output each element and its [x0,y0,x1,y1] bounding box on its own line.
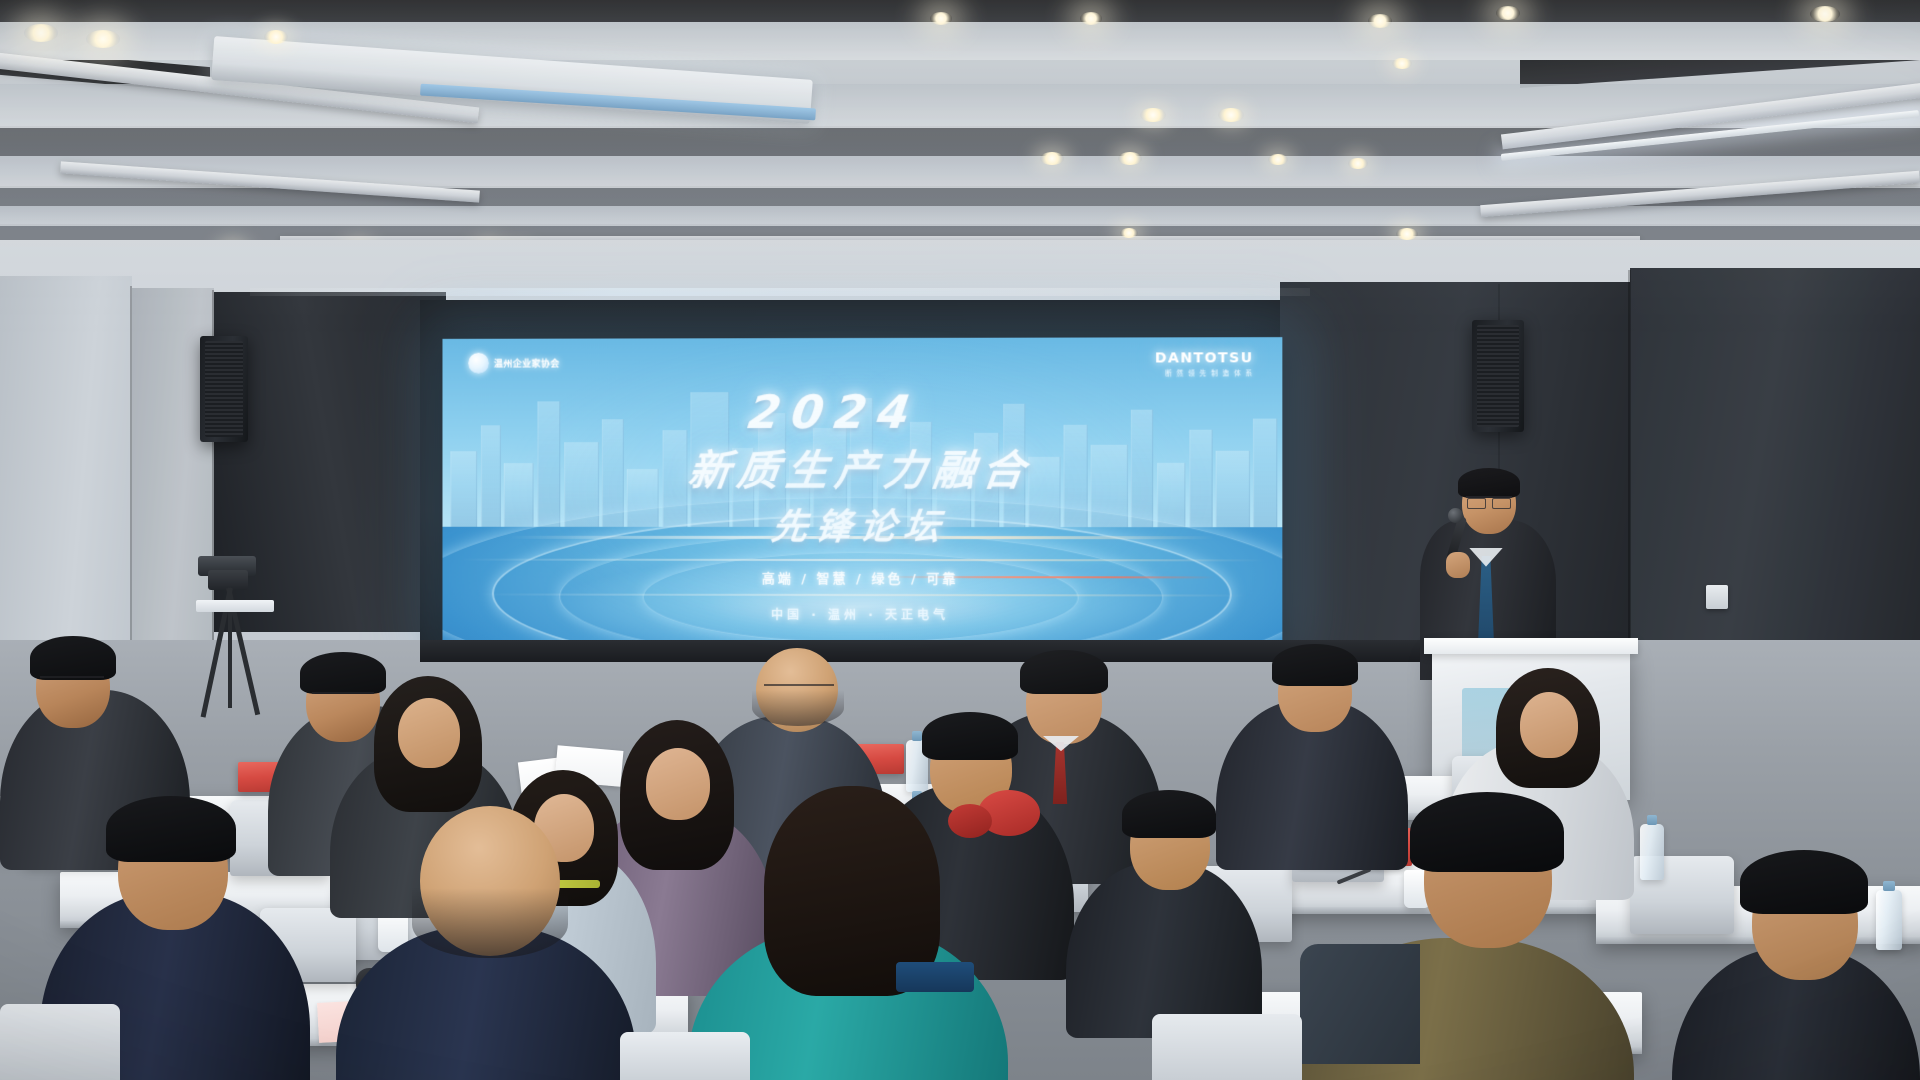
screen-title-sub: 先锋论坛 [442,498,1282,550]
screen-logo-left: 温州企业家协会 [468,353,560,374]
wall-speaker-right [1472,320,1524,432]
hair-bow [948,804,992,838]
dark-wall-far-right [1630,268,1920,668]
led-presentation-screen[interactable]: 温州企业家协会 DANTOTSU 断 然 领 先 制 造 体 系 2024 新质… [442,337,1282,644]
screen-slogan: 高端 / 智慧 / 绿色 / 可靠 [442,568,1282,588]
dark-wall-left [214,292,446,632]
microphone-head [1448,508,1463,523]
wall-switch-plate[interactable] [1706,585,1728,609]
screen-title-main: 新质生产力融合 [442,437,1282,498]
circular-emblem-icon [468,353,489,374]
screen-logo-right: DANTOTSU 断 然 领 先 制 造 体 系 [1155,350,1254,377]
side-table [196,600,274,612]
screen-venue: 中国 · 温州 · 天正电气 [442,606,1282,624]
brand-tagline: 断 然 领 先 制 造 体 系 [1155,367,1254,377]
podium-top-surface [1424,638,1638,654]
presenter-hair [1458,468,1520,498]
chair-back-foreground[interactable] [620,1032,750,1080]
water-bottle[interactable] [1876,890,1902,950]
conference-hall-photo: 温州企业家协会 DANTOTSU 断 然 领 先 制 造 体 系 2024 新质… [0,0,1920,1080]
brand-name: DANTOTSU [1155,350,1254,366]
screen-year: 2024 [442,385,1235,440]
water-bottle[interactable] [1640,824,1664,880]
screen-logo-left-text: 温州企业家协会 [494,357,560,370]
wall-speaker-left [200,336,248,442]
chair-back-foreground[interactable] [0,1004,120,1080]
presenter-hand [1446,552,1470,578]
presenter-glasses [1466,496,1512,506]
chair-back-foreground[interactable] [1152,1014,1302,1080]
screen-content: 温州企业家协会 DANTOTSU 断 然 领 先 制 造 体 系 2024 新质… [442,337,1282,644]
